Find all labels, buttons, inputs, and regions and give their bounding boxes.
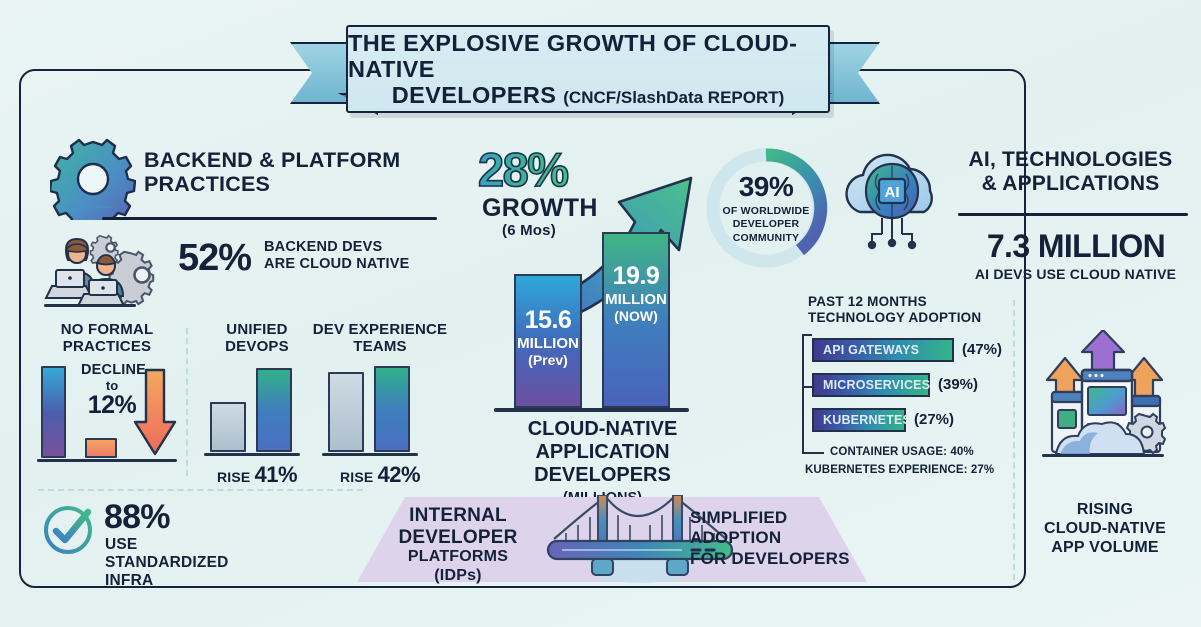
- mini-chart-caption: NO FORMAL PRACTICES: [37, 322, 177, 356]
- backend-stat-label: BACKEND DEVS ARE CLOUD NATIVE: [264, 239, 410, 274]
- idp-left-line3: PLATFORMS (IDPs): [383, 548, 533, 584]
- ai-divider: [958, 213, 1188, 216]
- banner-plate: THE EXPLOSIVE GROWTH OF CLOUD-NATIVE DEV…: [346, 25, 830, 113]
- gear-icon: [50, 138, 136, 220]
- rising-caption: RISING CLOUD-NATIVE APP VOLUME: [1030, 500, 1180, 558]
- banner-title-line2: DEVELOPERS (CNCF/SlashData REPORT): [392, 82, 785, 108]
- tech-bracket-stub-bot: [802, 452, 824, 454]
- foot-label: RISE: [340, 469, 373, 485]
- donut-percent: 39%: [739, 171, 794, 203]
- growth-bar-prev: 15.6 MILLION (Prev): [514, 274, 582, 408]
- foot-label: RISE: [217, 469, 250, 485]
- growth-period: (6 Mos): [502, 222, 556, 239]
- banner-title-source: (CNCF/SlashData REPORT): [563, 88, 784, 107]
- bar-after: [85, 438, 117, 458]
- tech-pct-api-gateways: (47%): [962, 341, 1002, 358]
- tech-pct-kubernetes: (27%): [914, 411, 954, 428]
- caption-line1: NO FORMAL: [37, 322, 177, 339]
- bar-value: 19.9: [613, 262, 660, 291]
- caption-line1: DEV EXPERIENCE: [310, 322, 450, 339]
- backend-platform-section: BACKEND & PLATFORM PRACTICES: [42, 134, 442, 304]
- title-banner: THE EXPLOSIVE GROWTH OF CLOUD-NATIVE DEV…: [290, 20, 880, 115]
- donut-subtext: OF WORLDWIDE DEVELOPER COMMUNITY: [723, 205, 810, 244]
- tech-heading: PAST 12 MONTHS TECHNOLOGY ADOPTION: [808, 294, 981, 326]
- bar-unit: MILLION: [517, 335, 579, 352]
- foot-value: 42%: [378, 462, 421, 487]
- down-arrow-icon: [133, 368, 177, 456]
- mini-chart-unified-devops: UNIFIED DEVOPS RISE 41%: [198, 322, 316, 488]
- growth-word: GROWTH: [482, 194, 598, 223]
- bar-before: [210, 402, 246, 452]
- bar-before: [328, 372, 364, 452]
- baseline: [322, 453, 418, 456]
- tech-pct-microservices: (39%): [938, 376, 978, 393]
- bar-after: [374, 366, 410, 452]
- banner-title-line1: THE EXPLOSIVE GROWTH OF CLOUD-NATIVE: [348, 30, 828, 83]
- technology-adoption-section: PAST 12 MONTHS TECHNOLOGY ADOPTION API G…: [800, 294, 1025, 479]
- ai-value: 7.3 MILLION: [956, 228, 1196, 265]
- backend-stat-label-line2: ARE CLOUD NATIVE: [264, 256, 410, 273]
- idp-right-text: SIMPLIFIED ADOPTION FOR DEVELOPERS: [690, 508, 865, 569]
- ai-title-line2: & APPLICATIONS: [948, 172, 1193, 196]
- tech-heading-line2: TECHNOLOGY ADOPTION: [808, 310, 981, 326]
- growth-percent: 28%: [478, 142, 568, 197]
- growth-caption: CLOUD-NATIVE APPLICATION DEVELOPERS (MIL…: [470, 418, 735, 506]
- bar-period: (NOW): [614, 308, 658, 324]
- standardized-label: USE STANDARDIZED INFRA: [105, 536, 229, 590]
- idp-right-line3: FOR DEVELOPERS: [690, 549, 865, 569]
- donut-sub-line3: COMMUNITY: [723, 232, 810, 245]
- rising-caption-line1: RISING: [1030, 500, 1180, 519]
- caption-line1: UNIFIED: [198, 322, 316, 339]
- baseline: [37, 459, 177, 462]
- idp-right-line1: SIMPLIFIED: [690, 508, 865, 528]
- tech-note-kubernetes-experience: KUBERNETES EXPERIENCE: 27%: [805, 464, 994, 476]
- bar-unit: MILLION: [605, 291, 667, 308]
- infographic-canvas: THE EXPLOSIVE GROWTH OF CLOUD-NATIVE DEV…: [0, 0, 1201, 627]
- ai-cloud-brain-icon: AI: [838, 146, 946, 264]
- growth-bar-now: 19.9 MILLION (NOW): [602, 232, 670, 408]
- divider-horizontal-1: [38, 489, 363, 491]
- growth-caption-line2: APPLICATION DEVELOPERS: [470, 441, 735, 487]
- caption-line2: TEAMS: [310, 339, 450, 356]
- tech-bar-api-gateways: API GATEWAYS: [812, 338, 954, 362]
- growth-caption-line1: CLOUD-NATIVE: [470, 418, 735, 441]
- tech-bar-label: KUBERNETES: [814, 413, 911, 427]
- bars-area: DECLINE to 12%: [37, 360, 177, 464]
- rising-caption-line3: APP VOLUME: [1030, 538, 1180, 557]
- standardized-value: 88%: [104, 498, 170, 537]
- tech-note-container-usage: CONTAINER USAGE: 40%: [830, 446, 974, 458]
- tech-bar-microservices: MICROSERVICES: [812, 373, 930, 397]
- tech-heading-line1: PAST 12 MONTHS: [808, 294, 981, 310]
- mini-chart-foot: RISE 42%: [310, 462, 450, 488]
- idp-left-line1: INTERNAL: [383, 505, 533, 527]
- mini-chart-caption: UNIFIED DEVOPS: [198, 322, 316, 356]
- tech-bar-label: MICROSERVICES: [814, 378, 930, 392]
- backend-stat-label-line1: BACKEND DEVS: [264, 239, 410, 256]
- worldwide-share-donut: 39% OF WORLDWIDE DEVELOPER COMMUNITY: [700, 142, 832, 274]
- check-circle-icon: [42, 504, 94, 556]
- mini-chart-no-formal-practices: NO FORMAL PRACTICES DECLINE to 12%: [37, 322, 177, 464]
- donut-sub-line1: OF WORLDWIDE: [723, 205, 810, 218]
- mini-chart-dev-experience-teams: DEV EXPERIENCE TEAMS RISE 42%: [310, 322, 450, 488]
- tech-bar-kubernetes: KUBERNETES: [812, 408, 906, 432]
- growth-baseline: [494, 408, 689, 412]
- mini-chart-caption: DEV EXPERIENCE TEAMS: [310, 322, 450, 356]
- rising-apps-icon: [1030, 330, 1180, 490]
- bar-after: [256, 368, 292, 452]
- backend-stat-value: 52%: [178, 237, 251, 280]
- people-laptop-icon: [44, 230, 174, 310]
- idp-right-line2: ADOPTION: [690, 528, 865, 548]
- bar-period: (Prev): [528, 352, 568, 368]
- idp-left-text: INTERNAL DEVELOPER PLATFORMS (IDPs): [383, 505, 533, 585]
- ai-sublabel: AI DEVS USE CLOUD NATIVE: [948, 266, 1201, 282]
- tech-bar-label: API GATEWAYS: [814, 343, 919, 357]
- baseline: [204, 453, 300, 456]
- backend-divider: [102, 217, 437, 220]
- idp-left-line2: DEVELOPER: [383, 527, 533, 549]
- donut-center-text: 39% OF WORLDWIDE DEVELOPER COMMUNITY: [700, 142, 832, 274]
- mini-chart-foot: RISE 41%: [198, 462, 316, 488]
- donut-sub-line2: DEVELOPER: [723, 218, 810, 231]
- ai-technologies-section: AI AI, TECHNOLOGIES & APPLICATIONS 7.3 M…: [838, 140, 1190, 290]
- bar-value: 15.6: [525, 306, 572, 335]
- caption-line2: PRACTICES: [37, 339, 177, 356]
- bars-area: [310, 362, 450, 458]
- bar-before: [41, 366, 66, 458]
- tech-bracket: [802, 334, 804, 452]
- tech-bracket-stub-mid: [802, 386, 812, 388]
- backend-platform-title: BACKEND & PLATFORM PRACTICES: [144, 148, 434, 196]
- ai-chip-label: AI: [885, 184, 900, 201]
- rising-caption-line2: CLOUD-NATIVE: [1030, 519, 1180, 538]
- divider-vertical-1: [186, 328, 188, 476]
- bars-area: [198, 362, 316, 458]
- foot-value: 41%: [255, 462, 298, 487]
- ai-title-line1: AI, TECHNOLOGIES: [948, 148, 1193, 172]
- tech-bracket-stub-top: [802, 334, 812, 336]
- ai-title: AI, TECHNOLOGIES & APPLICATIONS: [948, 148, 1193, 196]
- banner-title-line2-main: DEVELOPERS: [392, 82, 557, 108]
- caption-line2: DEVOPS: [198, 339, 316, 356]
